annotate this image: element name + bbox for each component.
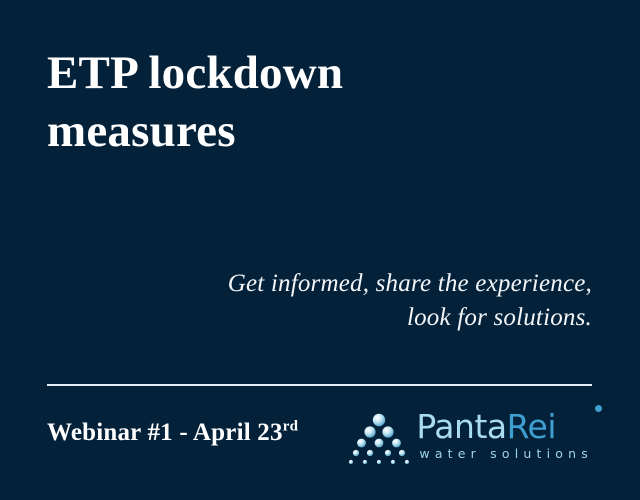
webinar-title-slide: ETP lockdown measures Get informed, shar… (0, 0, 640, 500)
bubble-triangle-icon (348, 412, 410, 468)
page-title: ETP lockdown measures (47, 44, 567, 160)
subtitle-line-2: look for solutions. (72, 301, 592, 335)
subtitle-line-1: Get informed, share the experience, (72, 267, 592, 301)
horizontal-divider (47, 384, 592, 386)
webinar-date-ordinal: rd (283, 419, 298, 435)
logo-word-panta: Panta (416, 407, 506, 446)
logo-wordmark: PantaRei (416, 408, 593, 446)
logo-wordmark-group: PantaRei water solutions (416, 406, 593, 462)
title-line-2: measures (47, 102, 567, 160)
webinar-date-text: Webinar #1 - April 23 (47, 419, 283, 446)
title-line-1: ETP lockdown (47, 44, 567, 102)
subtitle: Get informed, share the experience, look… (72, 267, 592, 335)
footer-bar: Webinar #1 - April 23rd (47, 406, 593, 478)
registered-trademark-icon (595, 405, 602, 412)
pantarei-logo: PantaRei water solutions (348, 406, 593, 476)
webinar-date-label: Webinar #1 - April 23rd (47, 418, 298, 448)
logo-tagline: water solutions (416, 446, 593, 462)
logo-word-rei: Rei (507, 407, 556, 446)
